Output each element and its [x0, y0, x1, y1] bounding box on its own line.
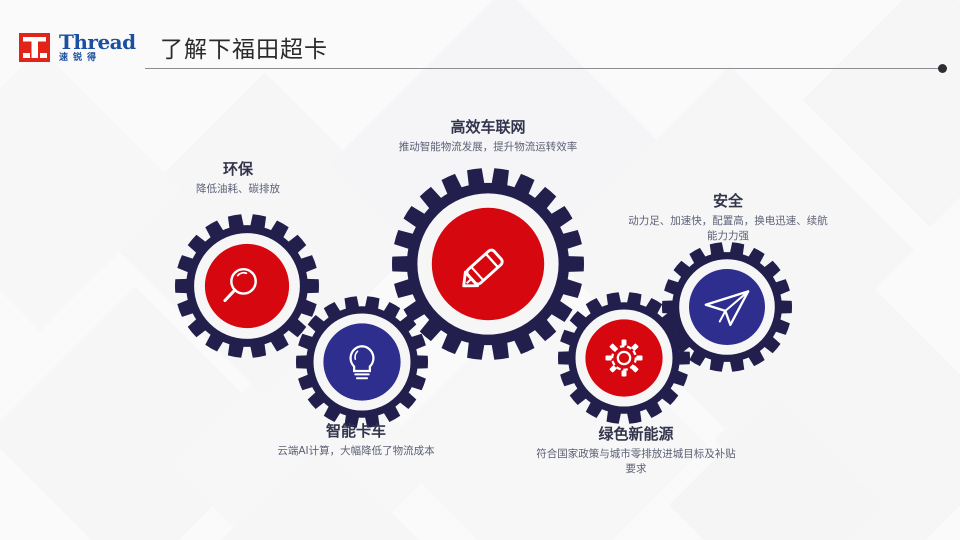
label-gaoxiao: 高效车联网 推动智能物流发展，提升物流运转效率: [388, 118, 588, 155]
slide-canvas: Thread 速锐得 了解下福田超卡: [0, 0, 960, 540]
gear-disc-gaoxiao: [432, 208, 544, 320]
gear-node-gaoxiao[interactable]: [392, 168, 584, 360]
brand-logo: Thread 速锐得: [18, 30, 136, 64]
red-book-logo-icon: [18, 30, 52, 64]
label-zhineng-desc: 云端AI计算，大幅降低了物流成本: [248, 444, 464, 459]
label-zhineng: 智能卡车 云端AI计算，大幅降低了物流成本: [248, 422, 464, 459]
header-divider-line: [145, 68, 940, 69]
label-zhineng-title: 智能卡车: [248, 422, 464, 441]
label-anquan: 安全 动力足、加速快，配置高，换电迅速、续航能力力强: [628, 192, 828, 244]
label-huanbao: 环保 降低油耗、碳排放: [143, 160, 333, 197]
brand-logo-text: Thread 速锐得: [59, 32, 136, 63]
gear-node-huanbao[interactable]: [175, 214, 319, 358]
label-huanbao-title: 环保: [143, 160, 333, 179]
label-anquan-desc: 动力足、加速快，配置高，换电迅速、续航能力力强: [628, 214, 828, 244]
gear-disc-zhineng: [323, 323, 400, 400]
gear-disc-anquan: [689, 269, 765, 345]
slide-header: Thread 速锐得 了解下福田超卡: [0, 0, 960, 84]
label-gaoxiao-desc: 推动智能物流发展，提升物流运转效率: [388, 140, 588, 155]
gear-disc-lvse: [585, 319, 662, 396]
gear-disc-huanbao: [205, 244, 289, 328]
label-lvse-title: 绿色新能源: [533, 425, 739, 444]
brand-name: Thread: [59, 32, 136, 52]
label-lvse-desc: 符合国家政策与城市零排放进城目标及补贴要求: [533, 447, 739, 477]
brand-name-cn: 速锐得: [59, 54, 136, 63]
label-lvse: 绿色新能源 符合国家政策与城市零排放进城目标及补贴要求: [533, 425, 739, 477]
gear-node-zhineng[interactable]: [296, 296, 428, 428]
label-anquan-title: 安全: [628, 192, 828, 211]
gear-node-lvse[interactable]: [558, 292, 690, 424]
page-title: 了解下福田超卡: [160, 30, 328, 64]
header-end-dot: [938, 64, 947, 73]
label-gaoxiao-title: 高效车联网: [388, 118, 588, 137]
label-huanbao-desc: 降低油耗、碳排放: [143, 182, 333, 197]
